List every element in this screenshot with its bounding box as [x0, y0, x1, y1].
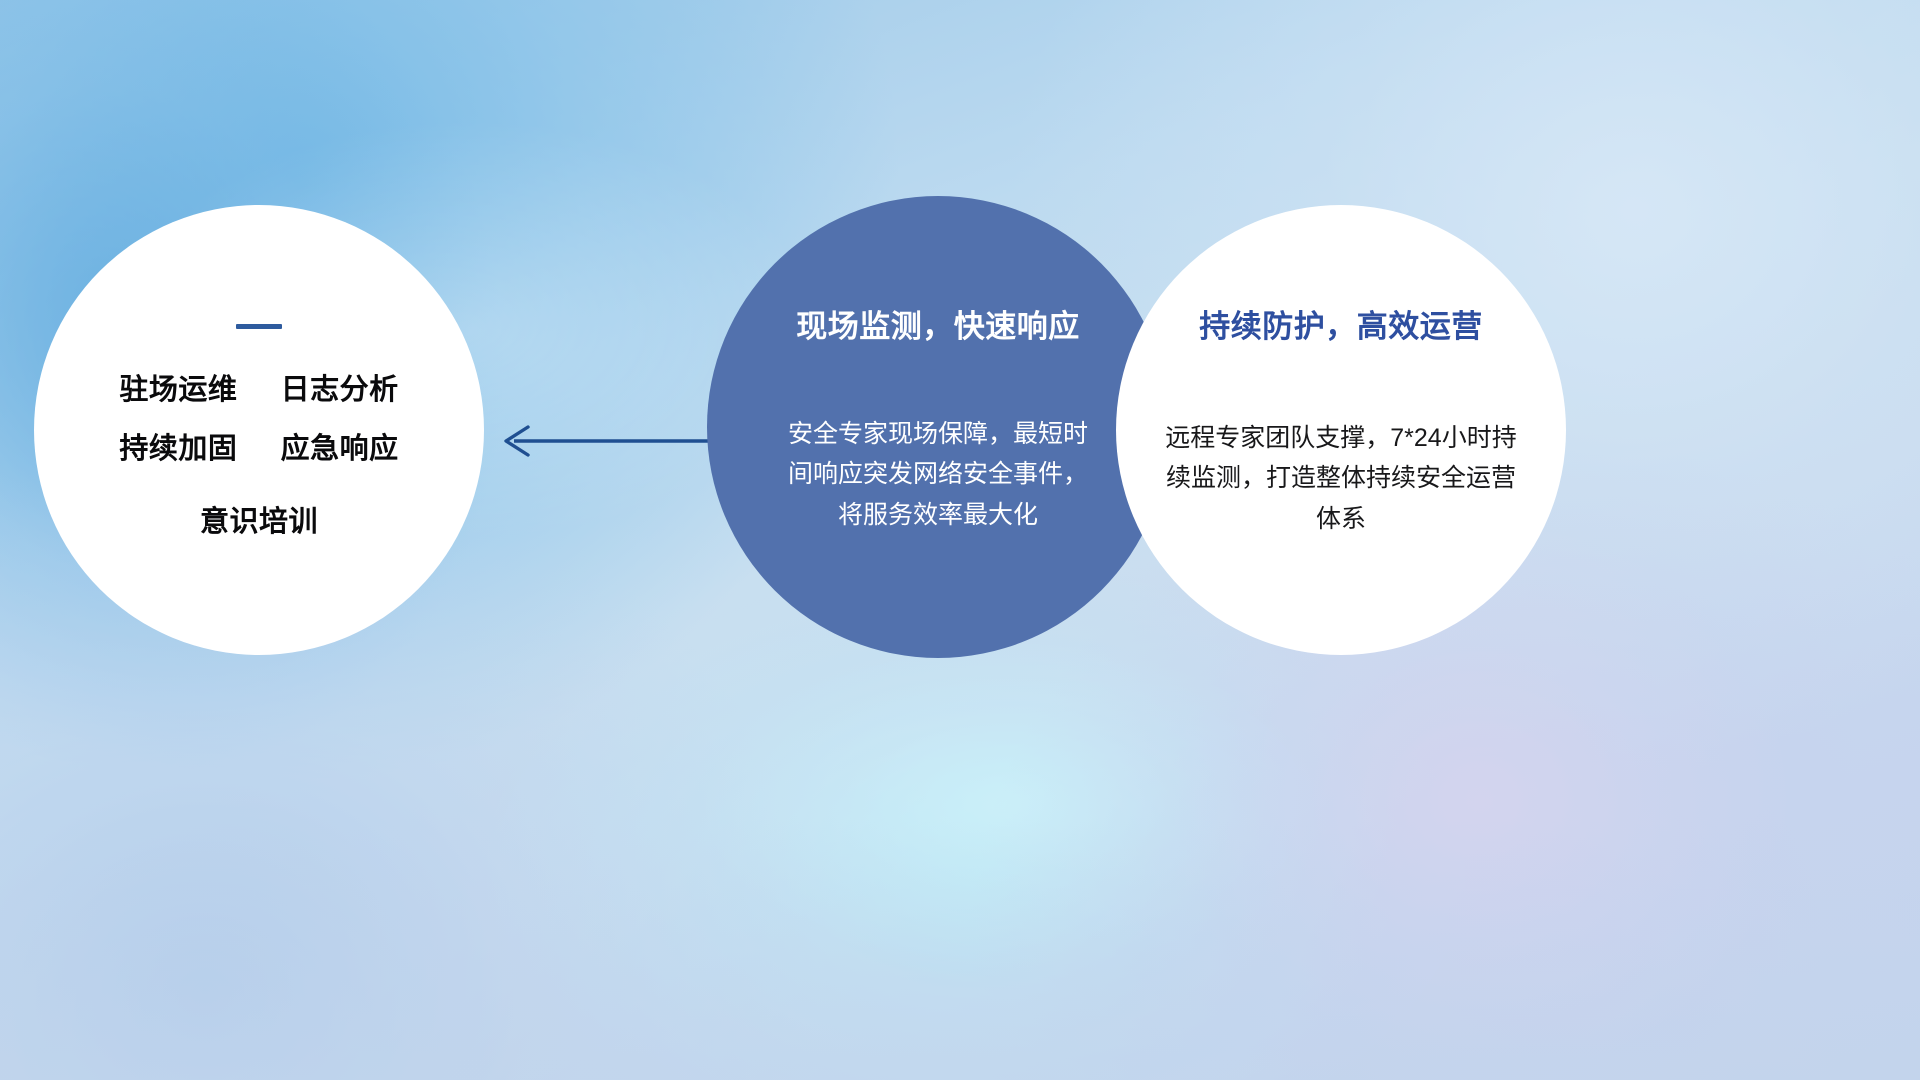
left-arrow-icon: [488, 418, 718, 464]
capability-tag-3: 持续加固: [119, 433, 237, 465]
capability-tag-1: 驻场运维: [119, 374, 237, 406]
center-circle-title: 现场监测，快速响应: [796, 311, 1080, 342]
capability-tag-2: 日志分析: [281, 374, 399, 406]
center-circle-card[interactable]: 现场监测，快速响应 安全专家现场保障，最短时间响应突发网络安全事件，将服务效率最…: [707, 196, 1169, 658]
divider-dash: [236, 324, 282, 329]
capability-line-1: 驻场运维 日志分析: [119, 376, 398, 405]
capability-tag-4: 应急响应: [281, 433, 399, 465]
capability-line-2: 持续加固 应急响应: [119, 435, 398, 464]
right-circle-title: 持续防护，高效运营: [1199, 311, 1483, 342]
center-circle-body: 安全专家现场保障，最短时间响应突发网络安全事件，将服务效率最大化: [788, 414, 1088, 536]
capability-tag-5: 意识培训: [200, 506, 318, 538]
capability-line-3: 意识培训: [200, 508, 318, 537]
process-diagram: 驻场运维 日志分析 持续加固 应急响应 意识培训 现场监测，快速响应 安全专家现…: [0, 0, 1920, 1080]
left-circle-card[interactable]: 驻场运维 日志分析 持续加固 应急响应 意识培训: [34, 205, 484, 655]
right-circle-body: 远程专家团队支撑，7*24小时持续监测，打造整体持续安全运营体系: [1163, 418, 1519, 540]
right-circle-card[interactable]: 持续防护，高效运营 远程专家团队支撑，7*24小时持续监测，打造整体持续安全运营…: [1116, 205, 1566, 655]
